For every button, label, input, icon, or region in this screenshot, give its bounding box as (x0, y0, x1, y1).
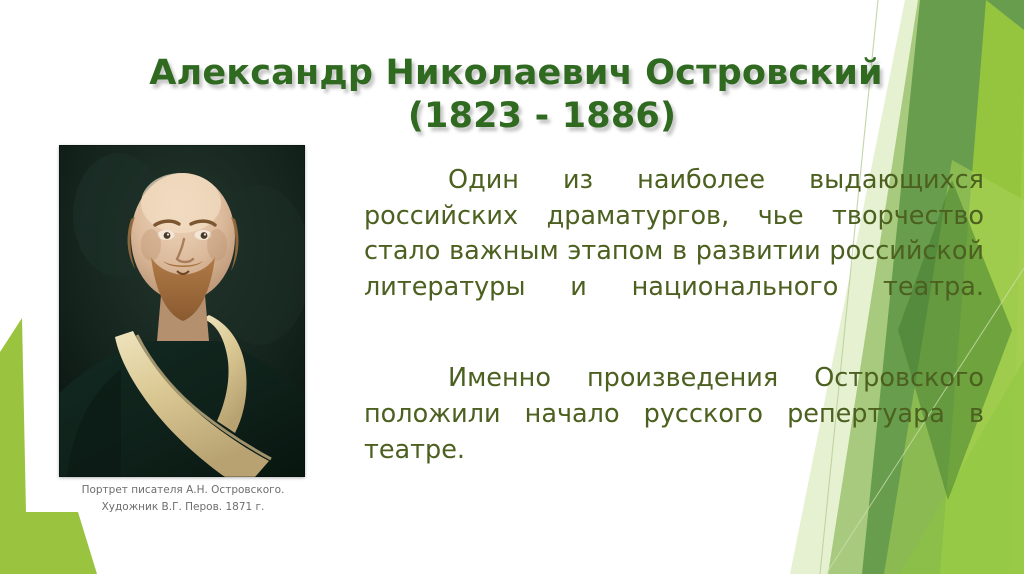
portrait-caption-line-1: Портрет писателя А.Н. Островского. (50, 482, 316, 499)
title-line-dates: (1823 - 1886) (148, 95, 936, 138)
body-text-block: Один из наиболее выдающихся российских д… (364, 163, 984, 469)
slide-canvas: Александр Николаевич Островский (1823 - … (0, 0, 1024, 574)
portrait-caption-line-2: Художник В.Г. Перов. 1871 г. (50, 499, 316, 516)
wedge-bright-green-left (0, 318, 26, 512)
body-paragraph-2: Именно произведения Островского положили… (364, 361, 984, 468)
portrait-image (59, 145, 305, 477)
portrait-caption: Портрет писателя А.Н. Островского. Худож… (50, 482, 316, 516)
body-paragraph-1: Один из наиболее выдающихся российских д… (364, 163, 984, 341)
wedge-bright-green-left-foot (0, 512, 97, 574)
title-line-name: Александр Николаевич Островский (96, 52, 936, 95)
page-title: Александр Николаевич Островский (1823 - … (96, 52, 936, 139)
